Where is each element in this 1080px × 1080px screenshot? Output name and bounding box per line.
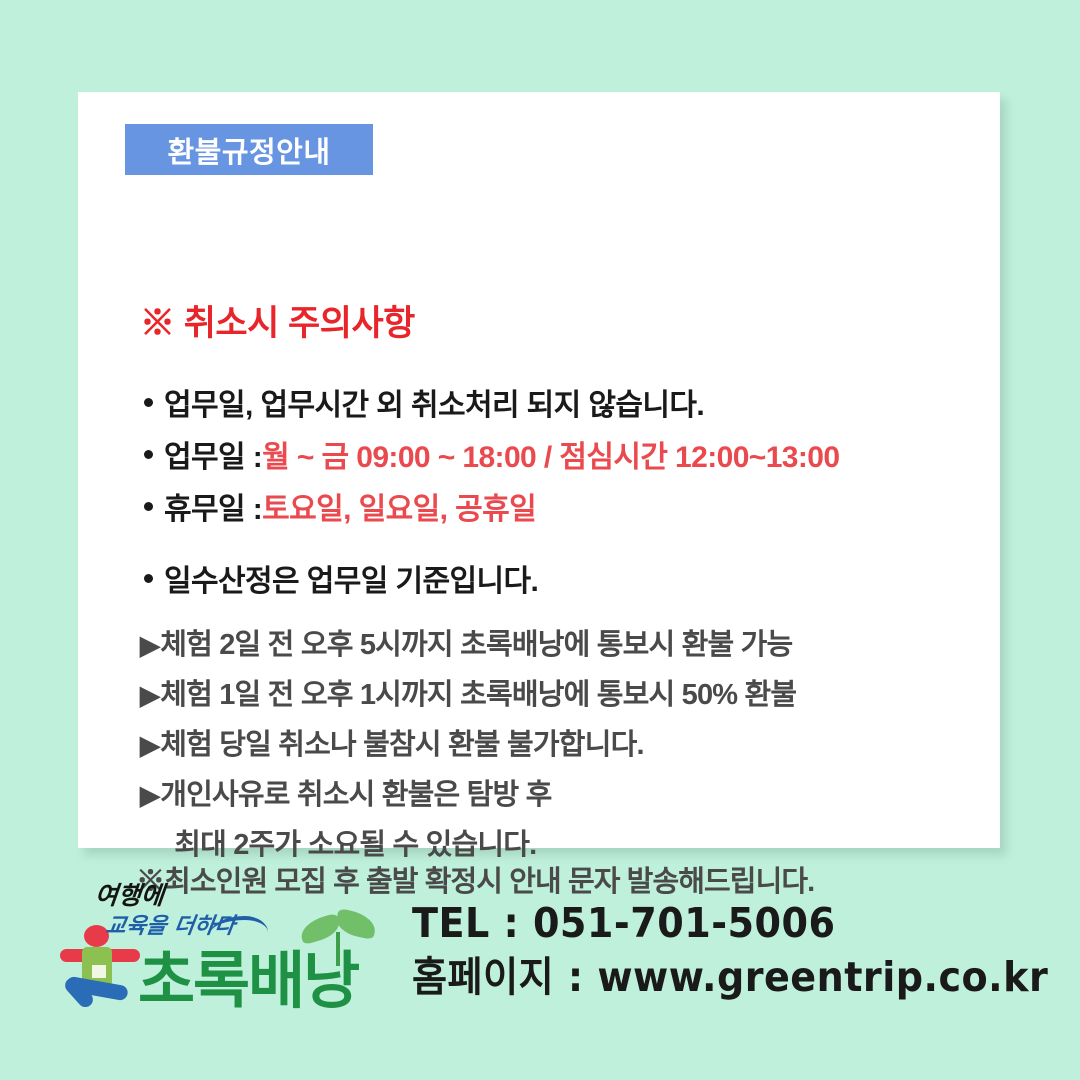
logo-brand-name: 초록배낭 bbox=[138, 930, 358, 1020]
list-item: 휴무일 : 토요일, 일요일, 공휴일 bbox=[144, 484, 984, 536]
arrow-right-icon: ▶ bbox=[140, 770, 159, 820]
list-item: 일수산정은 업무일 기준입니다. bbox=[144, 556, 984, 608]
bullet-text-black: 휴무일 : bbox=[164, 484, 262, 528]
hiker-strap bbox=[92, 965, 106, 978]
list-item: ▶ 체험 1일 전 오후 1시까지 초록배낭에 통보시 50% 환불 bbox=[140, 670, 990, 720]
bullet-dot-icon bbox=[144, 398, 153, 407]
bullet-dot-icon bbox=[144, 574, 153, 583]
policy-text: 개인사유로 취소시 환불은 탐방 후 bbox=[160, 770, 551, 820]
header-badge-label: 환불규정안내 bbox=[167, 129, 330, 171]
header-badge: 환불규정안내 bbox=[125, 124, 373, 175]
arrow-right-icon: ▶ bbox=[140, 720, 159, 770]
policy-list: ▶ 체험 2일 전 오후 5시까지 초록배낭에 통보시 환불 가능 ▶ 체험 1… bbox=[140, 620, 990, 870]
contact-tel: TEL : 051-701-5006 bbox=[412, 896, 1048, 950]
bullet-dot-icon bbox=[144, 450, 153, 459]
logo-top-word: 여행에 bbox=[93, 876, 166, 912]
bullet-text-red: 토요일, 일요일, 공휴일 bbox=[262, 484, 536, 528]
bullet-text-red: 월 ~ 금 09:00 ~ 18:00 / 점심시간 12:00~13:00 bbox=[262, 432, 839, 476]
policy-text: 체험 2일 전 오후 5시까지 초록배낭에 통보시 환불 가능 bbox=[160, 620, 792, 670]
policy-text: 체험 당일 취소나 불참시 환불 불가합니다. bbox=[160, 720, 644, 770]
contact-block: TEL : 051-701-5006 홈페이지 : www.greentrip.… bbox=[412, 896, 1080, 1004]
arrow-right-icon: ▶ bbox=[140, 670, 159, 720]
bullet-dot-icon bbox=[144, 502, 153, 511]
contact-homepage[interactable]: 홈페이지 : www.greentrip.co.kr bbox=[412, 950, 1048, 1004]
list-item: ▶ 체험 당일 취소나 불참시 환불 불가합니다. bbox=[140, 720, 990, 770]
footer: 여행에 교육을 더하다 초록배낭 TEL : 051-701-5006 홈페이지… bbox=[0, 860, 1080, 1080]
policy-text: 체험 1일 전 오후 1시까지 초록배낭에 통보시 50% 환불 bbox=[160, 670, 796, 720]
bullet-text-black: 일수산정은 업무일 기준입니다. bbox=[164, 556, 538, 600]
list-item: 업무일 : 월 ~ 금 09:00 ~ 18:00 / 점심시간 12:00~1… bbox=[144, 432, 984, 484]
notice-card: 환불규정안내 ※ 취소시 주의사항 업무일, 업무시간 외 취소처리 되지 않습… bbox=[78, 92, 1000, 848]
bullet-text-black: 업무일, 업무시간 외 취소처리 되지 않습니다. bbox=[164, 380, 704, 424]
brand-logo: 여행에 교육을 더하다 초록배낭 bbox=[60, 870, 380, 1020]
bullet-text-black: 업무일 : bbox=[164, 432, 262, 476]
list-item: ▶ 체험 2일 전 오후 5시까지 초록배낭에 통보시 환불 가능 bbox=[140, 620, 990, 670]
list-item: ▶ 개인사유로 취소시 환불은 탐방 후 최대 2주가 소요될 수 있습니다. bbox=[140, 770, 990, 870]
list-item: 업무일, 업무시간 외 취소처리 되지 않습니다. bbox=[144, 380, 984, 432]
arrow-right-icon: ▶ bbox=[140, 620, 159, 670]
bullet-list: 업무일, 업무시간 외 취소처리 되지 않습니다. 업무일 : 월 ~ 금 09… bbox=[144, 270, 984, 608]
